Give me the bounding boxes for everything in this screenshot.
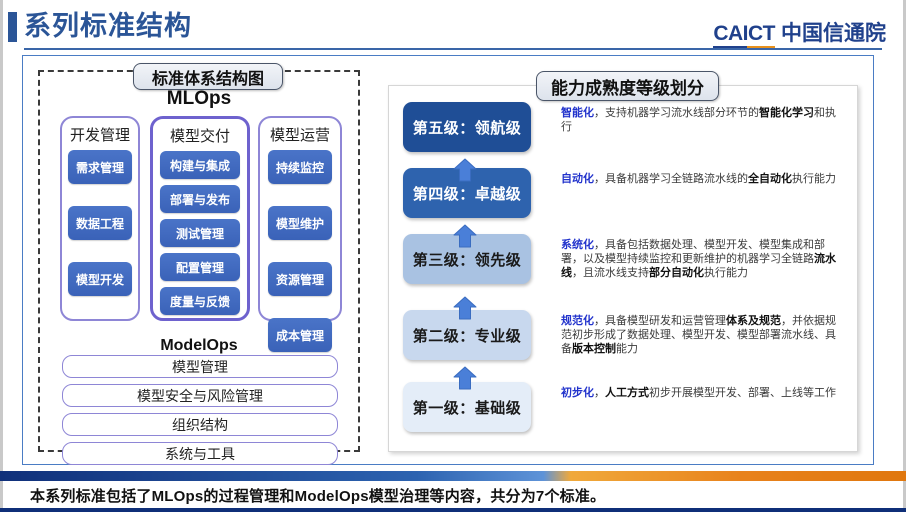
chip-item[interactable]: 部署与发布 xyxy=(160,185,240,213)
maturity-level-description: 规范化，具备模型研发和运营管理体系及规范，并依据规范初步形成了数据处理、模型开发… xyxy=(561,314,846,356)
modelops-row[interactable]: 系统与工具 xyxy=(62,442,338,465)
column-model-operations: 模型运营 持续监控 模型维护 资源管理 成本管理 xyxy=(258,116,342,321)
maturity-level-description: 智能化，支持机器学习流水线部分环节的智能化学习和执行 xyxy=(561,106,846,134)
chip-item[interactable]: 度量与反馈 xyxy=(160,287,240,315)
header-divider xyxy=(24,48,882,50)
maturity-level-box[interactable]: 第五级：领航级 xyxy=(403,102,531,152)
logo-chinese-name: 中国信通院 xyxy=(781,17,886,47)
maturity-level-description: 自动化，具备机器学习全链路流水线的全自动化执行能力 xyxy=(561,172,846,186)
left-edge xyxy=(0,0,3,512)
up-arrow-icon xyxy=(452,366,482,392)
column-model-delivery: 模型交付 构建与集成 部署与发布 测试管理 配置管理 度量与反馈 xyxy=(150,116,250,321)
logo-caict-mark: CAICT xyxy=(713,22,775,49)
modelops-row[interactable]: 模型管理 xyxy=(62,355,338,378)
modelops-title: ModelOps xyxy=(38,337,360,355)
footer-summary-text: 本系列标准包括了MLOps的过程管理和ModelOps模型治理等内容，共分为7个… xyxy=(30,485,890,506)
up-arrow-icon xyxy=(452,296,482,322)
maturity-level-description: 初步化，人工方式初步开展模型开发、部署、上线等工作 xyxy=(561,386,846,400)
up-arrow-icon xyxy=(452,158,482,184)
column-header: 模型运营 xyxy=(260,124,340,145)
chip-item[interactable]: 测试管理 xyxy=(160,219,240,247)
chip-item[interactable]: 需求管理 xyxy=(68,150,132,184)
mlops-title: MLOps xyxy=(38,88,360,110)
chip-item[interactable]: 构建与集成 xyxy=(160,151,240,179)
column-development-management: 开发管理 需求管理 数据工程 模型开发 xyxy=(60,116,140,321)
modelops-rows: 模型管理 模型安全与风险管理 组织结构 系统与工具 xyxy=(62,355,338,465)
page-title: 系列标准结构 xyxy=(24,8,192,44)
column-items: 需求管理 数据工程 模型开发 xyxy=(62,150,138,296)
caict-logo: CAICT 中国信通院 xyxy=(713,17,886,49)
chip-item[interactable]: 模型维护 xyxy=(268,206,332,240)
column-header: 模型交付 xyxy=(153,125,247,146)
column-header: 开发管理 xyxy=(62,124,138,145)
maturity-level-panel: 第五级：领航级智能化，支持机器学习流水线部分环节的智能化学习和执行第四级：卓越级… xyxy=(388,85,858,452)
chip-item[interactable]: 数据工程 xyxy=(68,206,132,240)
column-items: 持续监控 模型维护 资源管理 成本管理 xyxy=(260,150,340,352)
header: 系列标准结构 CAICT 中国信通院 xyxy=(0,0,906,52)
chip-item[interactable]: 配置管理 xyxy=(160,253,240,281)
logo-caict-text: CAICT xyxy=(713,22,775,45)
column-items: 构建与集成 部署与发布 测试管理 配置管理 度量与反馈 xyxy=(153,151,247,315)
maturity-level-description: 系统化，具备包括数据处理、模型开发、模型集成和部署，以及模型持续监控和更新维护的… xyxy=(561,238,846,280)
modelops-row[interactable]: 组织结构 xyxy=(62,413,338,436)
footer-bottom-line xyxy=(0,508,906,512)
up-arrow-icon xyxy=(452,224,482,250)
title-accent-bar xyxy=(8,12,17,42)
modelops-row[interactable]: 模型安全与风险管理 xyxy=(62,384,338,407)
chip-item[interactable]: 资源管理 xyxy=(268,262,332,296)
footer-gradient-bar xyxy=(0,471,906,481)
chip-item[interactable]: 模型开发 xyxy=(68,262,132,296)
maturity-level-badge: 能力成熟度等级划分 xyxy=(536,71,719,101)
chip-item[interactable]: 持续监控 xyxy=(268,150,332,184)
standard-architecture-badge: 标准体系结构图 xyxy=(133,63,283,90)
